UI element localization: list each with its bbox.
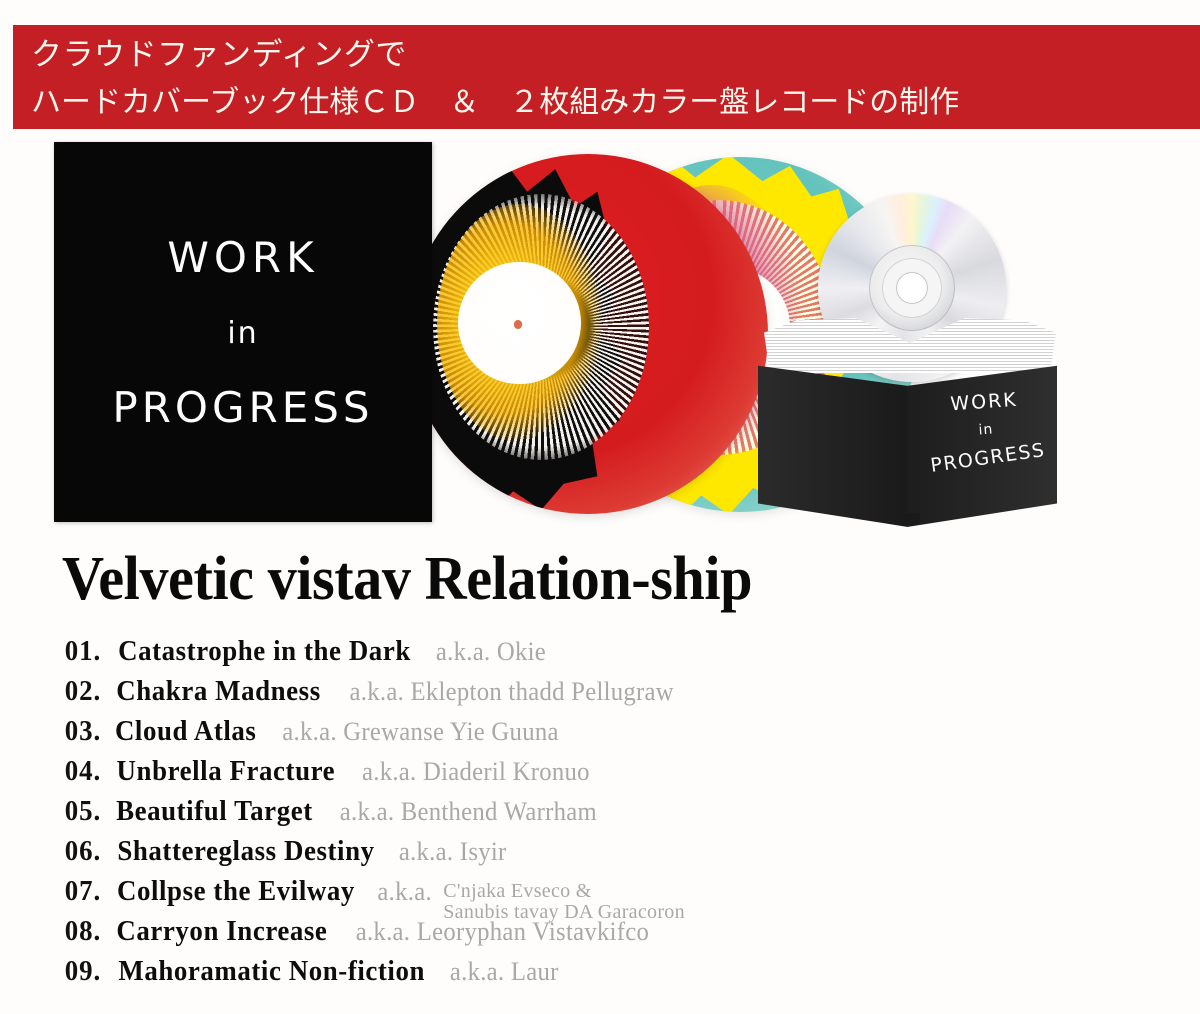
track-number: 02. [65,676,101,708]
sleeve-text-progress: PROGRESS [112,383,373,432]
track-aka: a.k.a. Diaderil Kronuo [362,757,590,787]
book-cover-text: WORK in PROGRESS [917,386,1054,473]
track-number: 07. [65,876,101,908]
track-number: 05. [65,796,101,828]
track-number: 08. [65,916,101,948]
track-row: 04. Unbrella Fracture a.k.a. Diaderil Kr… [64,756,1184,796]
track-aka-prefix: a.k.a. [377,877,432,907]
product-artwork: WORK in PROGRESS WORK in PROGRESS [0,132,1200,542]
track-number: 09. [65,956,101,988]
banner-line-2: ハードカバーブック仕様ＣＤ ＆ ２枚組みカラー盤レコードの制作 [31,79,1200,127]
track-title: Chakra Madness [116,676,320,708]
track-title: Unbrella Fracture [117,756,336,788]
track-row: 06. Shattereglass Destiny a.k.a. Isyir [64,836,1184,876]
track-row: 05. Beautiful Target a.k.a. Benthend War… [64,796,1184,836]
book-pages-right [908,317,1056,373]
book-text-in: in [920,417,1053,442]
track-title: Cloud Atlas [115,716,257,748]
track-title: Catastrophe in the Dark [118,636,411,668]
track-aka: a.k.a. Benthend Warrham [340,797,597,827]
track-aka: a.k.a. Laur [450,957,559,987]
track-aka: a.k.a. Grewanse Yie Guuna [283,717,559,747]
track-aka: a.k.a. Okie [436,637,546,667]
track-aka: a.k.a. Isyir [399,837,507,867]
book-cover-left [758,359,908,527]
track-number: 06. [65,836,101,868]
campaign-banner: クラウドファンディングで ハードカバーブック仕様ＣＤ ＆ ２枚組みカラー盤レコー… [13,25,1200,129]
track-number: 03. [65,716,101,748]
track-row: 03. Cloud Atlas a.k.a. Grewanse Yie Guun… [64,716,1184,756]
track-title: Shattereglass Destiny [117,836,374,868]
album-title: Velvetic vistav Relation-ship [62,548,752,610]
banner-line-1: クラウドファンディングで [31,31,1200,79]
track-row: 02. Chakra Madness a.k.a. Eklepton thadd… [64,676,1184,716]
sleeve-text-in: in [227,316,258,351]
book-pages-left [764,317,912,373]
track-number: 01. [65,636,101,668]
track-title: Mahoramatic Non-fiction [118,956,425,988]
track-row: 08. Carryon Increase a.k.a. Leoryphan Vi… [64,916,1184,956]
cd-center-hole [896,272,928,304]
book-spine-foot [900,513,920,525]
hardcover-book: WORK in PROGRESS [752,317,1068,537]
album-sleeve: WORK in PROGRESS [54,142,432,522]
track-title: Beautiful Target [116,796,313,828]
vinyl-record-red [408,154,768,514]
sleeve-text-work: WORK [167,233,318,282]
track-row: 07. Collpse the Evilway a.k.a. C'njaka E… [64,876,1184,916]
track-aka: a.k.a. Eklepton thadd Pellugraw [350,677,674,707]
track-row: 09. Mahoramatic Non-fiction a.k.a. Laur [64,956,1184,996]
track-title: Carryon Increase [116,916,327,948]
track-aka-line-1: C'njaka Evseco & [443,881,685,902]
track-title: Collpse the Evilway [117,876,355,908]
track-row: 01. Catastrophe in the Dark a.k.a. Okie [64,636,1184,676]
track-list: 01. Catastrophe in the Dark a.k.a. Okie … [64,636,1184,996]
track-aka: a.k.a. Leoryphan Vistavkifco [356,917,649,947]
track-number: 04. [65,756,101,788]
